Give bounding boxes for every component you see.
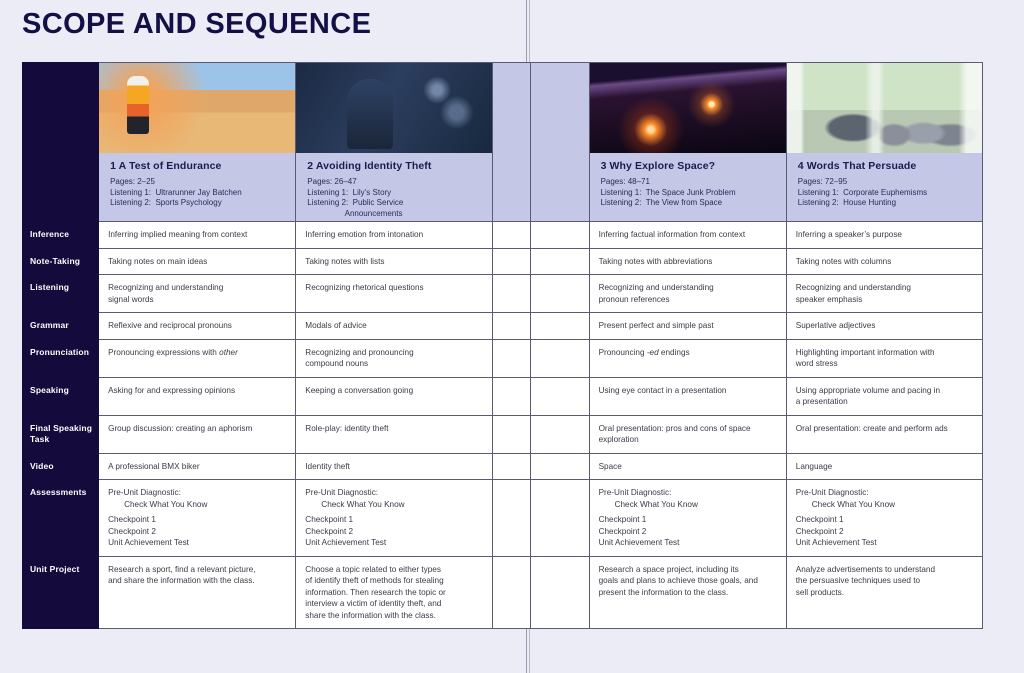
table-row: Final Speaking TaskGroup discussion: cre… (23, 415, 983, 453)
cell-r2-c0: Recognizing and understandingsignal word… (99, 275, 296, 313)
gutter-cell-right (530, 339, 589, 377)
cell-r3-c2: Present perfect and simple past (589, 313, 786, 340)
row-label-assessments: Assessments (23, 480, 99, 557)
gutter-cell-right (530, 377, 589, 415)
unit-pages: Pages: 72–95 (798, 177, 973, 188)
unit-meta-1: 1 A Test of EndurancePages: 2–25Listenin… (99, 153, 295, 221)
cell-r0-c0: Inferring implied meaning from context (99, 222, 296, 249)
unit-meta-2: 2 Avoiding Identity TheftPages: 26–47Lis… (296, 153, 492, 221)
cell-r9-c3: Analyze advertisements to understandthe … (786, 556, 982, 629)
unit-pages: Pages: 48–71 (601, 177, 777, 188)
header-corner-cell (23, 63, 99, 222)
gutter-cell-left (493, 339, 530, 377)
unit-listening2: Listening 2: House Hunting (798, 198, 973, 209)
cell-r8-c3: Pre-Unit Diagnostic:Check What You KnowC… (786, 480, 982, 557)
unit-title: 3 Why Explore Space? (601, 160, 777, 172)
unit-listening2: Listening 2: Public Service (307, 198, 483, 209)
cell-r0-c2: Inferring factual information from conte… (589, 222, 786, 249)
unit-listening1: Listening 1: Lily’s Story (307, 188, 483, 199)
unit-listening1: Listening 1: Corporate Euphemisms (798, 188, 973, 199)
gutter-cell-left (493, 480, 530, 557)
gutter-cell-left (493, 222, 530, 249)
unit-header-1: 1 A Test of EndurancePages: 2–25Listenin… (99, 63, 296, 222)
page-title: SCOPE AND SEQUENCE (22, 8, 371, 41)
unit-listening2: Listening 2: The View from Space (601, 198, 777, 209)
unit-title: 2 Avoiding Identity Theft (307, 160, 483, 172)
row-label-grammar: Grammar (23, 313, 99, 340)
cell-r5-c3: Using appropriate volume and pacing ina … (786, 377, 982, 415)
gutter-cell-left (493, 377, 530, 415)
cell-r0-c3: Inferring a speaker’s purpose (786, 222, 982, 249)
gutter-cell-right (530, 415, 589, 453)
cell-r3-c1: Modals of advice (296, 313, 493, 340)
gutter-cell-right (530, 453, 589, 480)
cell-r0-c1: Inferring emotion from intonation (296, 222, 493, 249)
table-row: ListeningRecognizing and understandingsi… (23, 275, 983, 313)
gutter-header-right (530, 63, 589, 222)
cell-r1-c2: Taking notes with abbreviations (589, 248, 786, 275)
cell-r8-c2: Pre-Unit Diagnostic:Check What You KnowC… (589, 480, 786, 557)
cell-r3-c0: Reflexive and reciprocal pronouns (99, 313, 296, 340)
cell-r6-c3: Oral presentation: create and perform ad… (786, 415, 982, 453)
cell-r5-c0: Asking for and expressing opinions (99, 377, 296, 415)
cell-r6-c0: Group discussion: creating an aphorism (99, 415, 296, 453)
table-row: InferenceInferring implied meaning from … (23, 222, 983, 249)
cell-r4-c2: Pronouncing -ed endings (589, 339, 786, 377)
cell-r9-c2: Research a space project, including itsg… (589, 556, 786, 629)
gutter-cell-right (530, 222, 589, 249)
cell-r5-c2: Using eye contact in a presentation (589, 377, 786, 415)
gutter-header-left (493, 63, 530, 222)
cell-r6-c2: Oral presentation: pros and cons of spac… (589, 415, 786, 453)
gutter-cell-left (493, 556, 530, 629)
table-row: Unit ProjectResearch a sport, find a rel… (23, 556, 983, 629)
cell-r7-c2: Space (589, 453, 786, 480)
desert-ultrarunner-photo (99, 63, 295, 153)
cell-r2-c1: Recognizing rhetorical questions (296, 275, 493, 313)
gutter-cell-left (493, 248, 530, 275)
scope-and-sequence-table: 1 A Test of EndurancePages: 2–25Listenin… (22, 62, 983, 629)
cell-r1-c0: Taking notes on main ideas (99, 248, 296, 275)
row-label-note-taking: Note-Taking (23, 248, 99, 275)
gutter-cell-left (493, 453, 530, 480)
unit-meta-3: 3 Why Explore Space?Pages: 48–71Listenin… (590, 153, 786, 221)
unit-pages: Pages: 2–25 (110, 177, 286, 188)
table-row: GrammarReflexive and reciprocal pronouns… (23, 313, 983, 340)
unit-pages: Pages: 26–47 (307, 177, 483, 188)
table-row: PronunciationPronouncing expressions wit… (23, 339, 983, 377)
unit-title: 1 A Test of Endurance (110, 160, 286, 172)
table-row: VideoA professional BMX bikerIdentity th… (23, 453, 983, 480)
cell-r1-c1: Taking notes with lists (296, 248, 493, 275)
cell-r4-c1: Recognizing and pronouncingcompound noun… (296, 339, 493, 377)
speaker-audience-photo (787, 63, 982, 153)
unit-listening1: Listening 1: Ultrarunner Jay Batchen (110, 188, 286, 199)
gutter-cell-right (530, 556, 589, 629)
unit-header-3: 3 Why Explore Space?Pages: 48–71Listenin… (589, 63, 786, 222)
cell-r9-c1: Choose a topic related to either typesof… (296, 556, 493, 629)
unit-title: 4 Words That Persuade (798, 160, 973, 172)
cell-r2-c3: Recognizing and understandingspeaker emp… (786, 275, 982, 313)
cell-r7-c0: A professional BMX biker (99, 453, 296, 480)
cell-r8-c0: Pre-Unit Diagnostic:Check What You KnowC… (99, 480, 296, 557)
gutter-cell-right (530, 275, 589, 313)
table-row: Note-TakingTaking notes on main ideasTak… (23, 248, 983, 275)
unit-listening2: Listening 2: Sports Psychology (110, 198, 286, 209)
table-row: AssessmentsPre-Unit Diagnostic:Check Wha… (23, 480, 983, 557)
cell-r4-c3: Highlighting important information withw… (786, 339, 982, 377)
table-row: SpeakingAsking for and expressing opinio… (23, 377, 983, 415)
row-label-pronunciation: Pronunciation (23, 339, 99, 377)
cell-r4-c0: Pronouncing expressions with other (99, 339, 296, 377)
cell-r7-c3: Language (786, 453, 982, 480)
row-label-listening: Listening (23, 275, 99, 313)
cell-r5-c1: Keeping a conversation going (296, 377, 493, 415)
gutter-cell-left (493, 313, 530, 340)
unit-listening2-cont: Announcements (307, 209, 483, 220)
row-label-final-speaking-task: Final Speaking Task (23, 415, 99, 453)
row-label-unit-project: Unit Project (23, 556, 99, 629)
gutter-cell-right (530, 313, 589, 340)
hooded-hacker-photo (296, 63, 492, 153)
gutter-cell-left (493, 415, 530, 453)
gutter-cell-right (530, 480, 589, 557)
unit-meta-4: 4 Words That PersuadePages: 72–95Listeni… (787, 153, 982, 221)
cell-r8-c1: Pre-Unit Diagnostic:Check What You KnowC… (296, 480, 493, 557)
unit-header-row: 1 A Test of EndurancePages: 2–25Listenin… (23, 63, 983, 222)
gutter-cell-right (530, 248, 589, 275)
cell-r7-c1: Identity theft (296, 453, 493, 480)
unit-listening1: Listening 1: The Space Junk Problem (601, 188, 777, 199)
unit-header-4: 4 Words That PersuadePages: 72–95Listeni… (786, 63, 982, 222)
gutter-cell-left (493, 275, 530, 313)
cell-r3-c3: Superlative adjectives (786, 313, 982, 340)
unit-header-2: 2 Avoiding Identity TheftPages: 26–47Lis… (296, 63, 493, 222)
cell-r6-c1: Role-play: identity theft (296, 415, 493, 453)
row-label-speaking: Speaking (23, 377, 99, 415)
row-label-inference: Inference (23, 222, 99, 249)
cell-r9-c0: Research a sport, find a relevant pictur… (99, 556, 296, 629)
cell-r2-c2: Recognizing and understandingpronoun ref… (589, 275, 786, 313)
row-label-video: Video (23, 453, 99, 480)
space-sunrise-photo (590, 63, 786, 153)
cell-r1-c3: Taking notes with columns (786, 248, 982, 275)
